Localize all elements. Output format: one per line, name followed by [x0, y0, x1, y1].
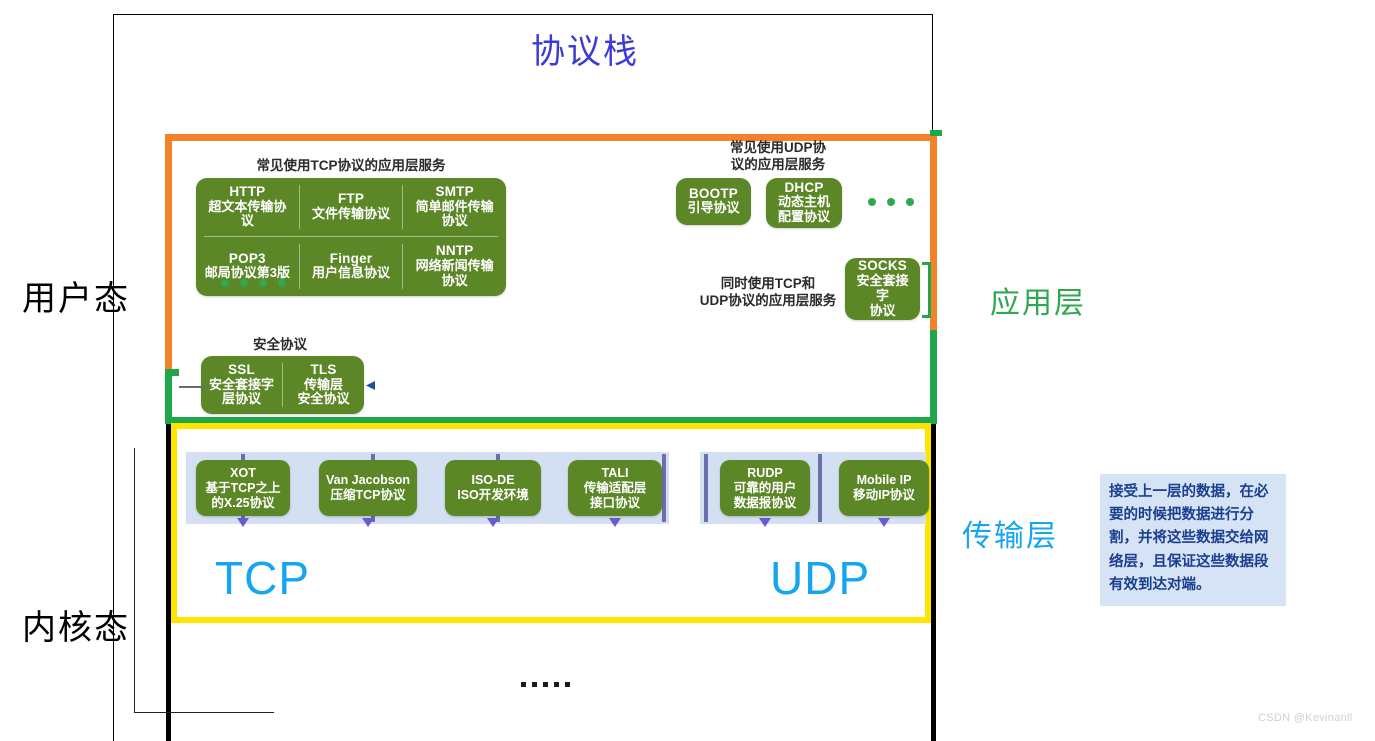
protocol-van-jacobson: Van Jacobson 压缩TCP协议	[319, 460, 417, 516]
protocol-name: 基于TCP之上 的X.25协议	[196, 481, 290, 511]
security-connector-line	[179, 386, 207, 388]
caption-tcp-services: 常见使用TCP协议的应用层服务	[196, 158, 506, 175]
service-name: 安全套接字 层协议	[209, 378, 274, 408]
service-pop3: POP3 邮局协议第3版	[196, 237, 299, 295]
security-protocol-grid: SSL 安全套接字 层协议 TLS 传输层 安全协议	[201, 356, 364, 414]
service-dhcp: DHCP 动态主机 配置协议	[766, 178, 842, 228]
protocol-name: 可靠的用户 数据报协议	[720, 481, 810, 511]
protocol-iso-de: ISO-DE ISO开发环境	[445, 460, 541, 516]
service-ssl: SSL 安全套接字 层协议	[201, 356, 282, 414]
service-code: TLS	[291, 362, 356, 378]
label-transport-layer: 传输层	[962, 511, 1058, 555]
protocol-code: TALI	[568, 466, 662, 481]
protocol-name: 传输适配层 接口协议	[568, 481, 662, 511]
dot	[221, 279, 229, 287]
service-name: 简单邮件传输协议	[411, 200, 498, 230]
more-udp-services-dots	[868, 198, 914, 206]
bottom-ellipsis	[521, 682, 570, 687]
kernel-guide-line	[134, 448, 135, 713]
service-code: Finger	[308, 251, 395, 267]
kernel-guide-bottom	[134, 712, 274, 713]
service-socks-cell: SOCKS 安全套接字 协议	[845, 258, 920, 320]
transport-layer-note: 接受上一层的数据，在必要的时候把数据进行分割，并将这些数据交给网络层，且保证这些…	[1100, 474, 1286, 606]
band-separator	[662, 454, 666, 522]
service-code: POP3	[204, 251, 291, 267]
protocol-code: XOT	[196, 466, 290, 481]
more-tcp-services-dots	[221, 279, 286, 287]
protocol-tali: TALI 传输适配层 接口协议	[568, 460, 662, 516]
application-layer-green-bracket	[165, 369, 179, 424]
service-name: 超文本传输协议	[204, 200, 291, 230]
service-name: 动态主机 配置协议	[774, 195, 834, 225]
pointer-icon	[878, 518, 890, 527]
service-code: NNTP	[411, 243, 498, 259]
dot	[887, 198, 895, 206]
dot	[554, 682, 559, 687]
service-name: 文件传输协议	[308, 207, 395, 222]
protocol-code: RUDP	[720, 466, 810, 481]
udp-protocol-band: RUDP 可靠的用户 数据报协议 Mobile IP 移动IP协议	[700, 452, 926, 524]
dot	[240, 279, 248, 287]
dot	[868, 198, 876, 206]
service-finger: Finger 用户信息协议	[300, 237, 403, 295]
dot	[906, 198, 914, 206]
service-bootp-cell: BOOTP 引导协议	[676, 178, 751, 225]
protocol-rudp: RUDP 可靠的用户 数据报协议	[720, 460, 810, 516]
service-smtp: SMTP 简单邮件传输协议	[403, 178, 506, 236]
protocol-xot: XOT 基于TCP之上 的X.25协议	[196, 460, 290, 516]
caption-udp-services: 常见使用UDP协 议的应用层服务	[693, 140, 863, 174]
band-separator	[818, 454, 822, 522]
label-user-mode: 用户态	[22, 271, 130, 320]
caption-security-protocols: 安全协议	[196, 337, 364, 354]
protocol-stack-diagram: 协议栈 用户态 内核态 常见使用TCP协议的应用层服务 HTTP 超文本传输协议…	[0, 0, 1375, 741]
protocol-code: Mobile IP	[839, 473, 929, 488]
service-tls: TLS 传输层 安全协议	[283, 356, 364, 414]
service-code: FTP	[308, 191, 395, 207]
dot	[278, 279, 286, 287]
service-code: BOOTP	[684, 186, 743, 202]
service-code: SMTP	[411, 184, 498, 200]
application-layer-green-right	[930, 330, 937, 424]
service-name: 引导协议	[684, 201, 743, 216]
protocol-name: 移动IP协议	[839, 488, 929, 503]
service-http: HTTP 超文本传输协议	[196, 178, 299, 236]
tcp-word: TCP	[215, 551, 310, 605]
service-name: 用户信息协议	[308, 266, 395, 281]
pointer-icon	[237, 518, 249, 527]
tcp-service-row-2: POP3 邮局协议第3版 Finger 用户信息协议 NNTP 网络新闻传输协议	[196, 237, 506, 295]
watermark: CSDN @Kevinanll	[1258, 712, 1353, 724]
pointer-icon	[759, 518, 771, 527]
band-separator	[704, 454, 708, 522]
protocol-code: Van Jacobson	[319, 473, 417, 488]
page-title: 协议栈	[0, 24, 1170, 73]
protocol-name: 压缩TCP协议	[319, 488, 417, 503]
service-name: 安全套接字 协议	[853, 274, 912, 319]
protocol-mobile-ip: Mobile IP 移动IP协议	[839, 460, 929, 516]
application-layer-green-tick	[930, 130, 942, 136]
label-kernel-mode: 内核态	[22, 600, 130, 649]
service-code: SSL	[209, 362, 274, 378]
protocol-code: ISO-DE	[445, 473, 541, 488]
service-nntp: NNTP 网络新闻传输协议	[403, 237, 506, 295]
udp-word: UDP	[770, 551, 870, 605]
dot	[532, 682, 537, 687]
service-name: 传输层 安全协议	[291, 378, 356, 408]
tcp-protocol-band: XOT 基于TCP之上 的X.25协议 Van Jacobson 压缩TCP协议…	[186, 452, 669, 524]
socks-bracket	[922, 262, 931, 318]
service-dhcp-cell: DHCP 动态主机 配置协议	[766, 178, 842, 228]
service-code: SOCKS	[853, 258, 912, 274]
service-ftp: FTP 文件传输协议	[300, 178, 403, 236]
dot	[521, 682, 526, 687]
dot	[543, 682, 548, 687]
protocol-name: ISO开发环境	[445, 488, 541, 503]
dot	[565, 682, 570, 687]
service-code: HTTP	[204, 184, 291, 200]
service-socks: SOCKS 安全套接字 协议	[845, 258, 920, 320]
service-bootp: BOOTP 引导协议	[676, 178, 751, 225]
service-code: DHCP	[774, 180, 834, 196]
pointer-icon	[487, 518, 499, 527]
caption-both-services: 同时使用TCP和 UDP协议的应用层服务	[693, 276, 843, 310]
pointer-icon	[609, 518, 621, 527]
service-name: 网络新闻传输协议	[411, 259, 498, 289]
label-application-layer: 应用层	[990, 278, 1086, 322]
dot	[259, 279, 267, 287]
tcp-service-row-1: HTTP 超文本传输协议 FTP 文件传输协议 SMTP 简单邮件传输协议	[196, 178, 506, 236]
pointer-icon	[362, 518, 374, 527]
